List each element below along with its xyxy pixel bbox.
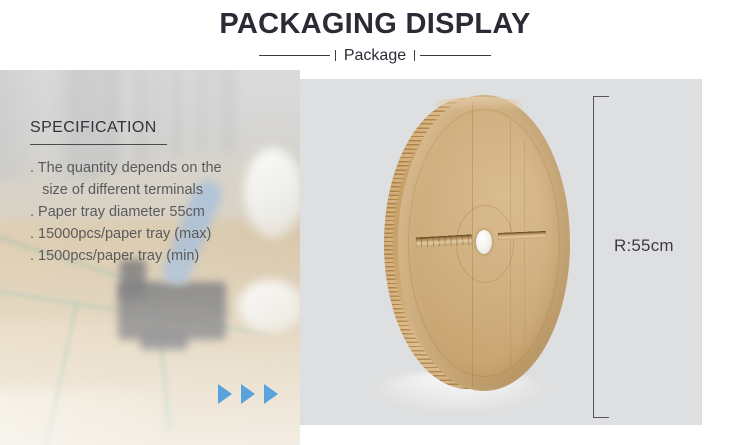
reel-top-seam-highlight xyxy=(436,97,522,111)
subtitle-cap-left xyxy=(335,50,336,61)
product-image-panel: R:55cm xyxy=(300,79,702,425)
reel-score-line-right-2 xyxy=(524,141,525,347)
specification-heading: SPECIFICATION xyxy=(30,118,295,138)
triangle-right-icon xyxy=(264,384,278,404)
reel-front-face xyxy=(398,95,570,391)
spec-item: . 1500pcs/paper tray (min) xyxy=(30,245,295,267)
triangle-right-icon xyxy=(241,384,255,404)
paper-tray-reel-image xyxy=(384,95,570,391)
subtitle-line-right xyxy=(420,55,491,56)
dimension-bracket-vertical xyxy=(593,96,594,418)
dimension-label: R:55cm xyxy=(614,236,674,256)
specification-block: SPECIFICATION . The quantity depends on … xyxy=(30,118,295,267)
spec-item: size of different terminals xyxy=(30,179,295,201)
subtitle-line-left xyxy=(259,55,330,56)
spec-item: . The quantity depends on the xyxy=(30,157,295,179)
spec-item: . Paper tray diameter 55cm xyxy=(30,201,295,223)
arrow-indicator-group xyxy=(218,384,278,404)
page-header: PACKAGING DISPLAY Package xyxy=(0,0,750,70)
page-title: PACKAGING DISPLAY xyxy=(0,7,750,41)
subtitle-cap-right xyxy=(414,50,415,61)
reel-center-hole xyxy=(476,230,492,254)
dimension-bracket-bottom-tick xyxy=(593,417,609,418)
triangle-right-icon xyxy=(218,384,232,404)
subtitle-text: Package xyxy=(341,46,409,65)
dimension-bracket xyxy=(593,96,609,418)
subtitle-row: Package xyxy=(0,44,750,66)
dimension-bracket-top-tick xyxy=(593,96,609,97)
spec-item: . 15000pcs/paper tray (max) xyxy=(30,223,295,245)
specification-underline xyxy=(30,144,167,145)
